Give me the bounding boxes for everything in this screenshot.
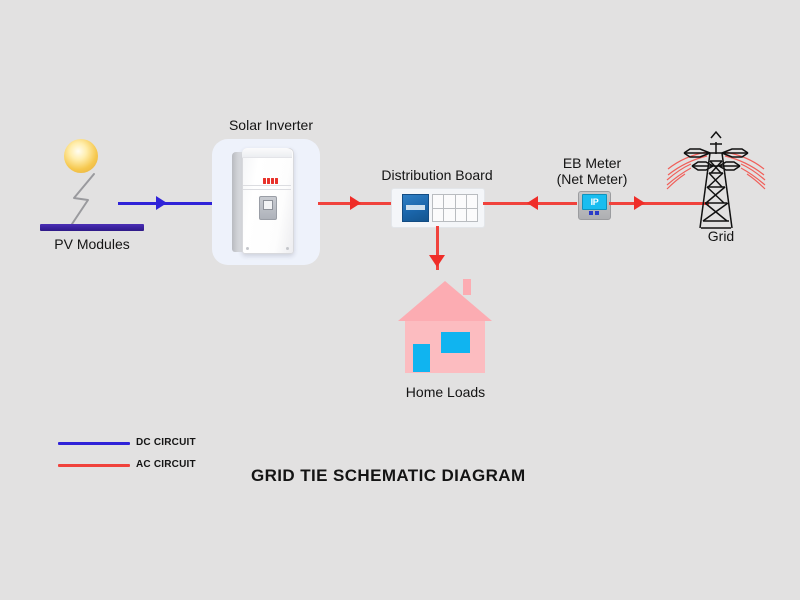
ac-flow-arrow-inverter-to-db xyxy=(350,196,361,210)
pv-module-panel xyxy=(40,224,144,231)
breaker-cell xyxy=(444,195,454,208)
sun-icon xyxy=(64,139,98,173)
ac-flow-arrow-meter-to-grid xyxy=(634,196,645,210)
legend-swatch-ac xyxy=(58,464,130,467)
distribution-board-breakers xyxy=(432,194,478,222)
dc-wire-pv-to-inverter xyxy=(118,202,218,205)
breaker-cell xyxy=(456,195,466,208)
abb-logo-icon xyxy=(263,178,278,184)
legend-label-dc: DC CIRCUIT xyxy=(136,437,196,449)
dc-flow-arrow xyxy=(156,196,167,210)
eb-meter-indicator-lights xyxy=(589,211,599,215)
distribution-board-label: Distribution Board xyxy=(372,167,502,183)
grid-transmission-tower-icon xyxy=(666,128,776,236)
breaker-cell xyxy=(456,209,466,222)
breaker-cell xyxy=(467,195,477,208)
distribution-board-main-switch xyxy=(402,194,429,222)
diagram-title: GRID TIE SCHEMATIC DIAGRAM xyxy=(251,466,526,486)
breaker-cell xyxy=(467,209,477,222)
eb-meter-label-line1: EB Meter xyxy=(537,155,647,171)
breaker-cell xyxy=(433,195,443,208)
breaker-cell xyxy=(433,209,443,222)
eb-meter-label-line2: (Net Meter) xyxy=(537,171,647,187)
legend-swatch-dc xyxy=(58,442,130,445)
home-loads-label: Home Loads xyxy=(388,384,503,400)
legend-label-ac: AC CIRCUIT xyxy=(136,459,196,471)
inverter-display-panel xyxy=(259,196,277,220)
ac-flow-arrow-to-home xyxy=(429,255,445,267)
breaker-cell xyxy=(444,209,454,222)
ac-flow-arrow-meter-to-db xyxy=(527,196,538,210)
schematic-canvas: PV Modules Solar Inverter Distribution B… xyxy=(0,0,800,600)
lightning-bolt-icon xyxy=(66,172,102,228)
pv-modules-label: PV Modules xyxy=(28,236,156,252)
solar-inverter-label: Solar Inverter xyxy=(201,117,341,133)
grid-label: Grid xyxy=(676,228,766,244)
eb-meter-screen: IP xyxy=(582,194,607,210)
